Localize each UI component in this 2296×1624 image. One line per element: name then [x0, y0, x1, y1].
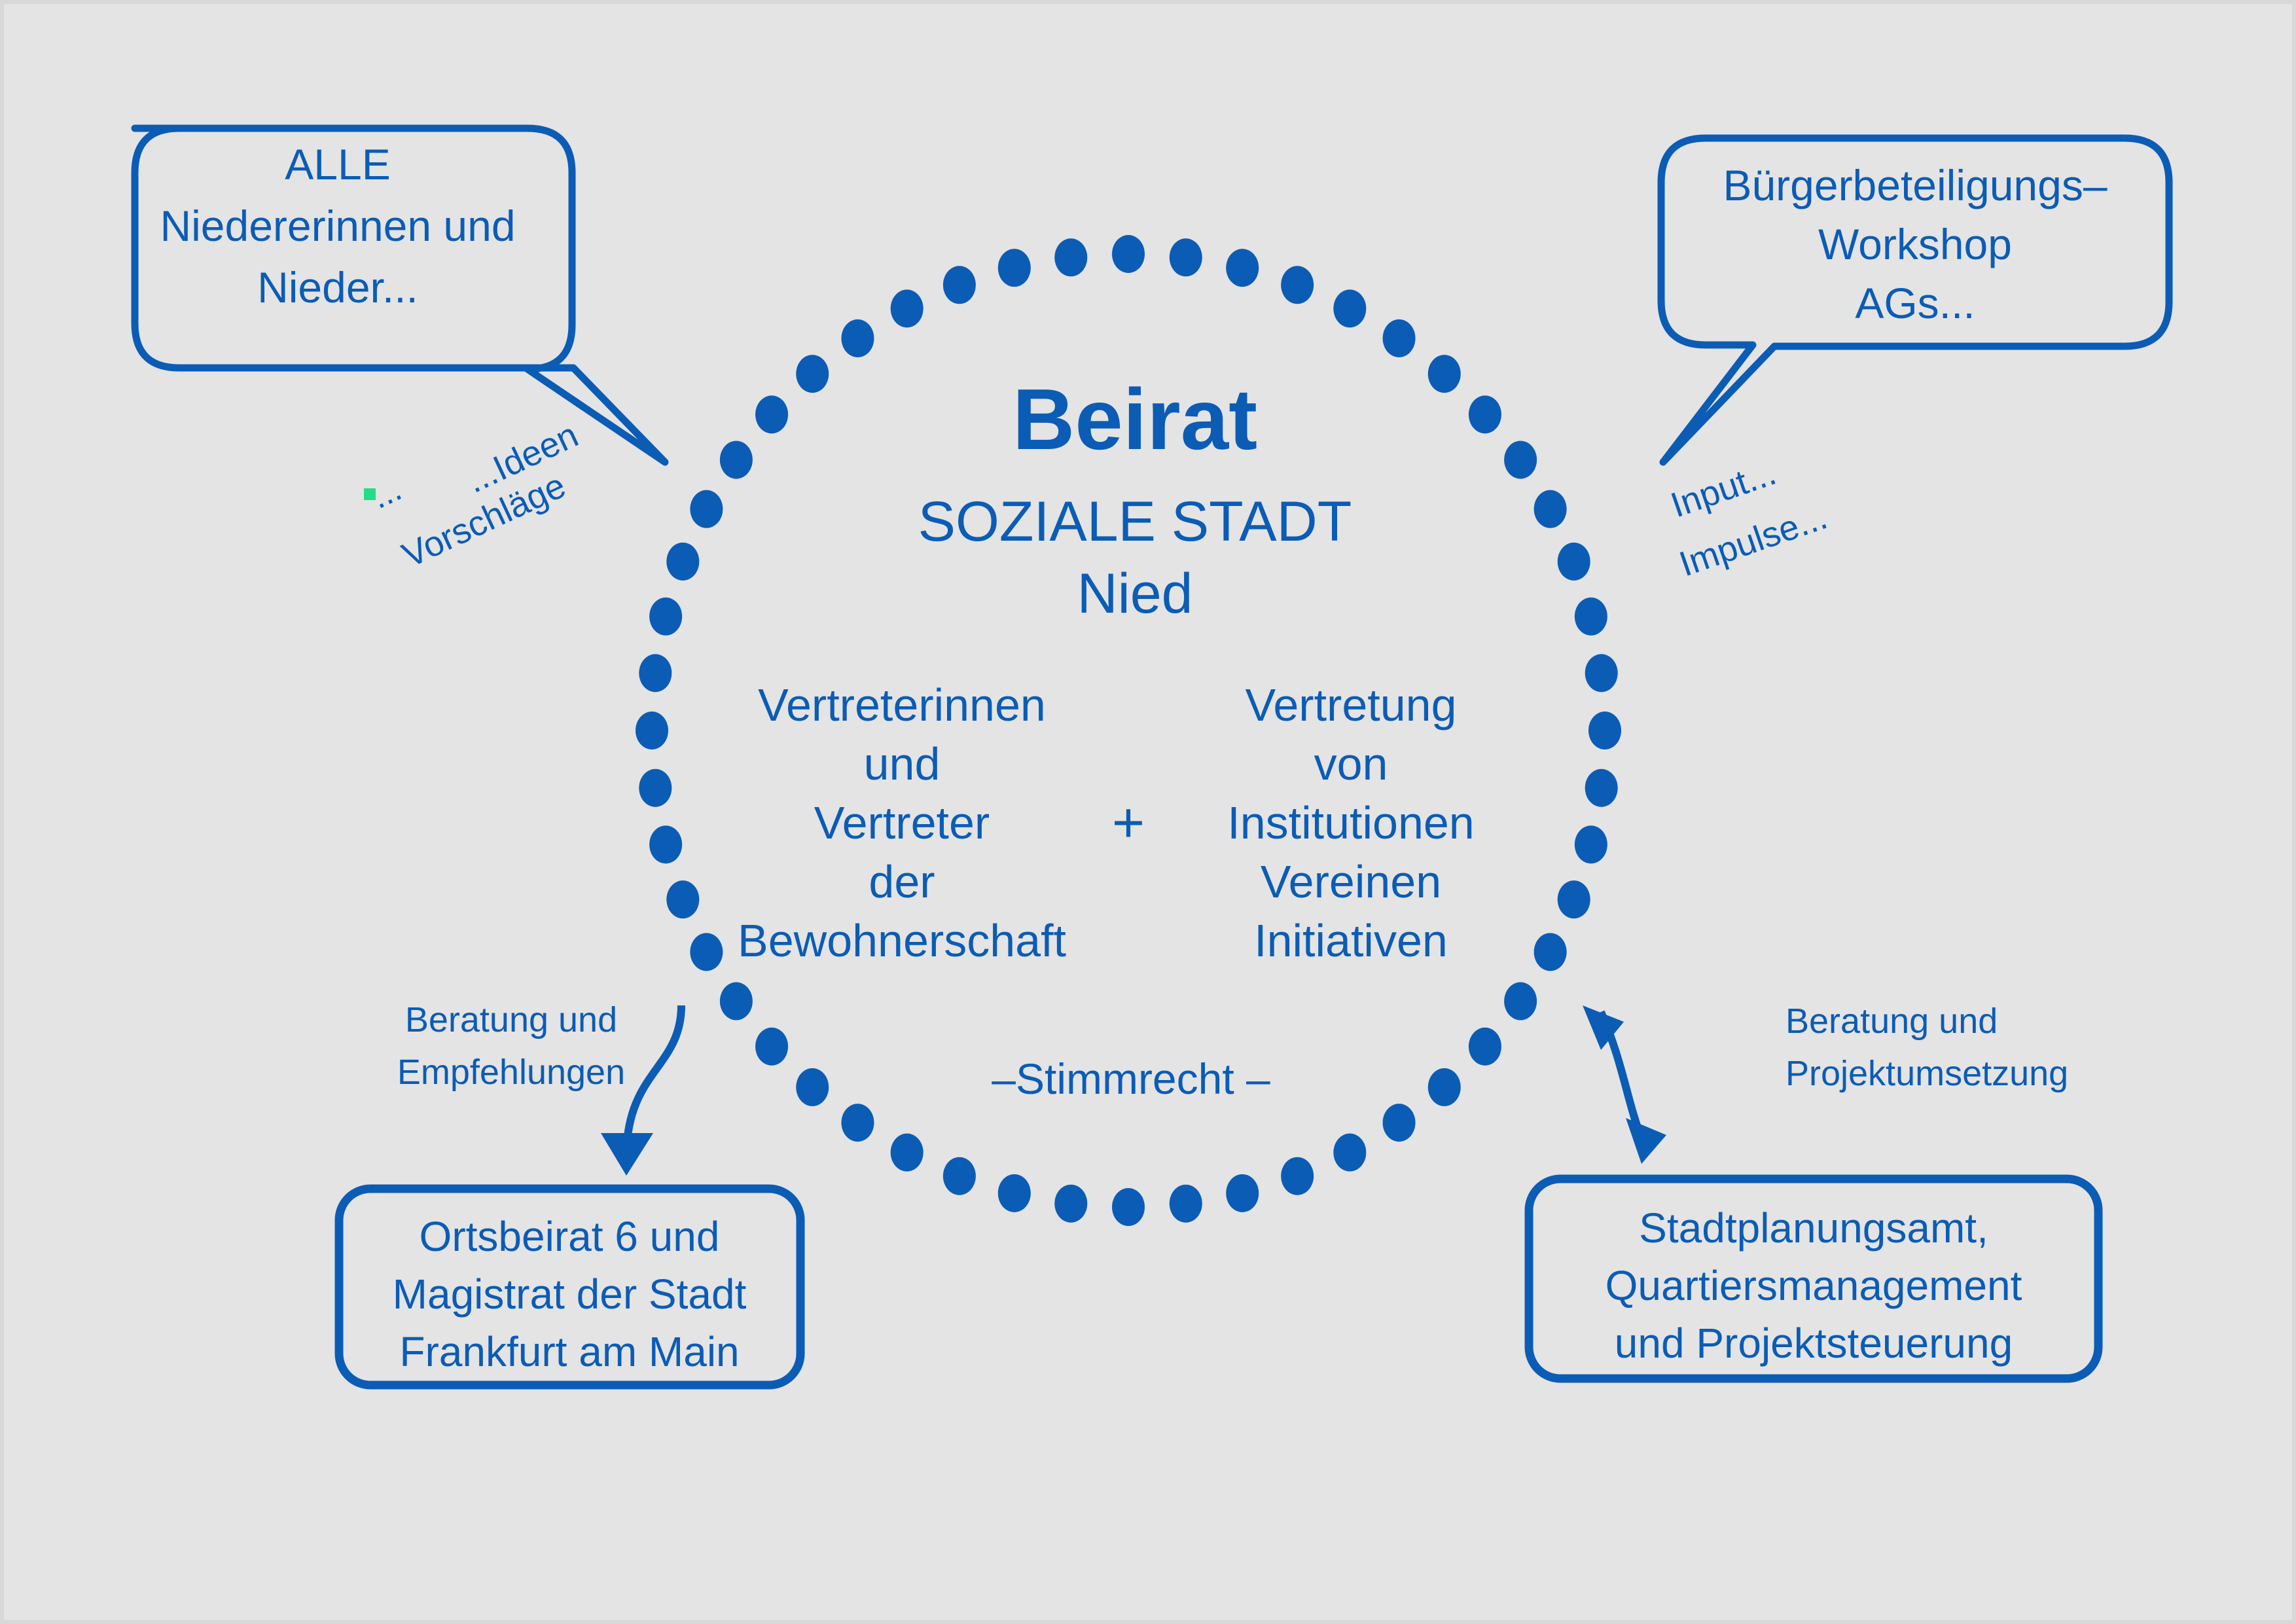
ortsbeirat-box[interactable]: Ortsbeirat 6 und Magistrat der Stadt Fra…	[339, 1189, 800, 1385]
ring-dot	[891, 1134, 924, 1172]
ring-dot	[1588, 712, 1621, 749]
ring-dot	[1054, 238, 1087, 276]
ring-dot	[943, 1157, 976, 1195]
ring-dot	[1504, 983, 1537, 1020]
ortsbeirat-line-1: Ortsbeirat 6 und	[420, 1213, 720, 1260]
bubble-line-1: Bürgerbeteiligungs–	[1723, 161, 2107, 209]
left-outflow-arrow-stem	[627, 1005, 681, 1143]
ring-dot	[1428, 1068, 1461, 1106]
center-content: Beirat SOZIALE STADT Nied Vertreterinnen…	[738, 371, 1475, 1103]
ring-dot	[1226, 1174, 1259, 1212]
left-col-line-5: Bewohnerschaft	[738, 915, 1066, 966]
right-outflow-arrow-head-down	[1626, 1118, 1666, 1164]
ring-dot	[1281, 1157, 1314, 1195]
ring-dot	[1575, 598, 1607, 636]
ring-dot	[1575, 825, 1607, 863]
ring-dot	[636, 712, 668, 749]
ring-dot	[1534, 933, 1567, 971]
ring-dot	[1585, 769, 1618, 807]
ring-dot	[690, 933, 723, 971]
right-outflow-line-2: Projektumsetzung	[1785, 1054, 2068, 1093]
left-col-line-3: Vertreter	[814, 797, 990, 848]
ring-dot	[841, 1104, 874, 1142]
ring-dot	[796, 1068, 829, 1106]
bubble-line-2: Niedererinnen und	[160, 202, 515, 250]
right-outflow-annotation: Beratung und Projektumsetzung	[1583, 1001, 2068, 1164]
stadtplanungsamt-line-3: und Projektsteuerung	[1615, 1320, 2013, 1367]
ring-dot	[1428, 355, 1461, 393]
ring-dot	[943, 266, 976, 304]
left-outflow-annotation: Beratung und Empfehlungen	[397, 1000, 681, 1176]
ring-dot	[1054, 1185, 1087, 1223]
ring-dot	[1112, 1188, 1145, 1226]
left-inflow-dots: ...	[366, 470, 408, 516]
stadtplanungsamt-line-1: Stadtplanungsamt,	[1639, 1204, 1988, 1252]
ring-dot	[1504, 441, 1537, 478]
beirat-diagram: ALLE Niedererinnen und Nieder... Bürgerb…	[4, 4, 2296, 1624]
ring-dot	[755, 395, 788, 433]
ring-dot	[1333, 1134, 1366, 1172]
buergerbeteiligung-bubble[interactable]: Bürgerbeteiligungs– Workshop AGs...	[1661, 138, 2169, 462]
ring-dot	[639, 769, 672, 807]
left-col-line-1: Vertreterinnen	[758, 679, 1046, 731]
stimmrecht-note: –Stimmrecht –	[992, 1055, 1270, 1103]
ring-dot	[998, 1174, 1031, 1212]
ring-dot	[891, 289, 924, 327]
right-col-line-3: Institutionen	[1227, 797, 1474, 848]
right-outflow-line-1: Beratung und	[1785, 1001, 1998, 1041]
right-col-line-1: Vertretung	[1246, 679, 1457, 731]
right-col-line-2: von	[1314, 738, 1388, 789]
left-outflow-line-2: Empfehlungen	[397, 1053, 625, 1092]
plus-symbol: +	[1112, 791, 1145, 854]
ring-dot	[1170, 1185, 1202, 1223]
ring-dot	[841, 319, 874, 357]
right-col-line-4: Vereinen	[1261, 856, 1441, 907]
ortsbeirat-line-2: Magistrat der Stadt	[393, 1271, 747, 1318]
ring-dot	[1469, 1028, 1501, 1066]
ring-dot	[1383, 1104, 1416, 1142]
ring-dot	[796, 355, 829, 393]
ring-dot	[1585, 654, 1618, 692]
ring-dot	[1558, 543, 1590, 581]
ring-dot	[1469, 395, 1501, 433]
ring-dot	[666, 880, 699, 918]
center-subtitle-2: Nied	[1077, 562, 1193, 625]
stadtplanungsamt-box[interactable]: Stadtplanungsamt, Quartiersmanagement un…	[1529, 1179, 2098, 1379]
ring-dot	[1333, 289, 1366, 327]
alle-niederer-bubble[interactable]: ALLE Niedererinnen und Nieder...	[135, 128, 665, 462]
right-col-line-5: Initiativen	[1254, 915, 1448, 966]
ring-dot	[1112, 235, 1145, 273]
page-title: Beirat	[1013, 371, 1257, 467]
left-outflow-arrow-head-down	[601, 1133, 653, 1176]
ring-dot	[666, 543, 699, 581]
left-col-line-4: der	[869, 856, 935, 907]
ring-dot	[1170, 238, 1202, 276]
ring-dot	[1281, 266, 1314, 304]
left-outflow-line-1: Beratung und	[405, 1000, 617, 1039]
ring-dot	[998, 249, 1031, 287]
bubble-line-2: Workshop	[1818, 220, 2012, 268]
ring-dot	[720, 983, 753, 1020]
right-inflow-annotation: Input... Impulse...	[1666, 453, 1832, 584]
ring-dot	[639, 654, 672, 692]
ring-dot	[755, 1028, 788, 1066]
ring-dot	[720, 441, 753, 478]
ring-dot	[1558, 880, 1590, 918]
ring-dot	[1226, 249, 1259, 287]
ring-dot	[1383, 319, 1416, 357]
stadtplanungsamt-line-2: Quartiersmanagement	[1605, 1262, 2022, 1309]
bubble-line-1: ALLE	[285, 140, 390, 189]
center-subtitle-1: SOZIALE STADT	[918, 490, 1352, 553]
bubble-line-3: AGs...	[1855, 279, 1975, 327]
right-inflow-line-1: Input...	[1666, 453, 1781, 525]
ring-dot	[1534, 490, 1567, 528]
diagram-canvas: ALLE Niedererinnen und Nieder... Bürgerb…	[0, 0, 2296, 1624]
bubble-line-3: Nieder...	[257, 263, 418, 312]
ring-dot	[649, 598, 682, 636]
ortsbeirat-line-3: Frankfurt am Main	[399, 1328, 739, 1375]
ring-dot	[649, 825, 682, 863]
ring-dot	[690, 490, 723, 528]
left-inflow-annotation: ... ...Ideen Vorschläge	[364, 415, 584, 575]
left-col-line-2: und	[864, 738, 941, 789]
